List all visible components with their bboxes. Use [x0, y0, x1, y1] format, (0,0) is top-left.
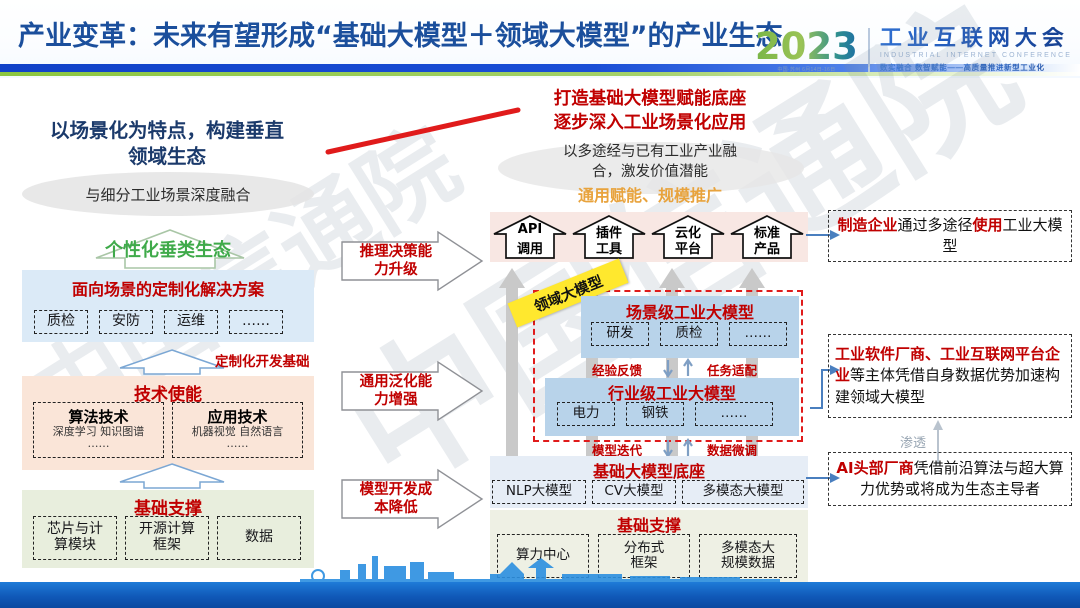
left-tech-title: 技术使能: [22, 376, 314, 405]
center-scene-model-title: 场景级工业大模型: [581, 296, 799, 323]
left-base-title: 基础支撑: [22, 490, 314, 519]
center-red-title-line2: 逐步深入工业场景化应用: [492, 112, 808, 136]
middle-arrow-2-text: 模型开发成本降低: [344, 481, 448, 517]
right-box-1: 制造企业通过多途径使用工业大模型: [828, 210, 1072, 262]
left-heading-line1: 以场景化为特点，构建垂直: [22, 118, 312, 144]
logo-english-name: INDUSTRIAL INTERNET CONFERENCE: [880, 52, 1072, 59]
center-house-0: API 调用: [492, 214, 568, 260]
center-house-1: 插件 工具: [571, 214, 647, 260]
left-tech-group-1-sub: 机器视觉 自然语言 ……: [192, 426, 284, 451]
center-gray-sub-line1: 以多途经与已有工业产业融: [492, 143, 808, 163]
middle-arrow-0-text: 推理决策能力升级: [344, 243, 448, 279]
middle-arrow-1: 通用泛化能力增强: [340, 360, 484, 422]
right-box-2: 工业软件厂商、工业互联网平台企业等主体凭借自身数据优势加速构建领域大模型: [828, 334, 1072, 418]
right-box-3-seg-0: AI头部厂商: [836, 459, 913, 477]
left-tech-group-0-title: 算法技术: [68, 409, 128, 426]
center-foundation-item-0: NLP大模型: [492, 480, 586, 504]
right-box-2-seg-1: 等主体凭借自身数据优势加速构建领域大模型: [835, 366, 1060, 405]
center-base-support-item-0: 算力中心: [497, 534, 589, 578]
center-house-0-line2: 调用: [492, 238, 568, 257]
slide-root: 产业变革：未来有望形成“基础大模型＋领域大模型”的产业生态 2023 中国·苏州…: [0, 0, 1080, 608]
center-base-support-title: 基础支撑: [490, 510, 808, 536]
center-scene-item-1: 质检: [660, 322, 718, 346]
slide-header: 产业变革：未来有望形成“基础大模型＋领域大模型”的产业生态 2023 中国·苏州…: [0, 0, 1080, 78]
center-gray-sub: 以多途经与已有工业产业融 合，激发价值潜能: [492, 143, 808, 182]
page-title: 产业变革：未来有望形成“基础大模型＋领域大模型”的产业生态: [18, 14, 783, 53]
logo-year: 2023: [755, 28, 858, 65]
right-box-1-seg-0: 制造企业: [837, 216, 897, 234]
center-house-1-line2: 工具: [571, 238, 647, 257]
center-house-2: 云化 平台: [650, 214, 726, 260]
left-arrow-note-1: 定制化开发基础: [215, 350, 310, 370]
center-scene-item-2: ……: [729, 322, 787, 346]
right-box-1-seg-2: 使用: [973, 216, 1003, 234]
left-base-item-0: 芯片与计 算模块: [33, 516, 117, 560]
left-tech-group-0: 算法技术 深度学习 知识图谱 ……: [33, 402, 164, 458]
center-house-3-line2: 产品: [729, 238, 805, 257]
logo-chinese-name: 工业互联网大会: [880, 27, 1072, 50]
left-green-banner: 个性化垂类生态: [22, 236, 314, 262]
bottom-blue-band: [0, 582, 1080, 608]
center-red-title: 打造基础大模型赋能底座 逐步深入工业场景化应用: [492, 88, 808, 135]
right-box-1-text: 制造企业通过多途径使用工业大模型: [835, 215, 1065, 256]
center-industry-model-title: 行业级工业大模型: [545, 378, 799, 404]
center-mid-label-left: 经验反馈: [592, 360, 642, 379]
center-mid-arrows: [660, 358, 700, 380]
left-solution-item-0: 质检: [34, 310, 88, 334]
center-industry-item-1: 钢铁: [626, 402, 684, 426]
left-subtitle: 与细分工业场景深度融合: [22, 184, 314, 205]
middle-arrow-0: 推理决策能力升级: [340, 230, 484, 292]
middle-arrow-2: 模型开发成本降低: [340, 468, 484, 530]
left-heading-line2: 领域生态: [22, 144, 312, 170]
center-red-title-line1: 打造基础大模型赋能底座: [492, 88, 808, 112]
center-house-3: 标准 产品: [729, 214, 805, 260]
center-industry-item-2: ……: [695, 402, 773, 426]
left-solution-item-2: 运维: [164, 310, 218, 334]
center-foundation-item-1: CV大模型: [592, 480, 676, 504]
center-base-support-item-1: 分布式 框架: [598, 534, 690, 578]
left-base-item-2: 数据: [217, 516, 301, 560]
right-box-2-text: 工业软件厂商、工业互联网平台企业等主体凭借自身数据优势加速构建领域大模型: [835, 344, 1065, 408]
conference-logo: 2023 中国·苏州 6月14日-16日 工业互联网大会 INDUSTRIAL …: [755, 24, 1072, 76]
penetrate-label: 渗透: [900, 432, 926, 451]
left-tech-group-1: 应用技术 机器视觉 自然语言 ……: [172, 402, 303, 458]
center-gray-sub-line2: 合，激发价值潜能: [492, 163, 808, 183]
center-house-2-line2: 平台: [650, 238, 726, 257]
right-box-3-text: AI头部厂商凭借前沿算法与超大算力优势或将成为生态主导者: [835, 458, 1065, 500]
logo-chinese-tagline: 数实融合 数智赋能——高质量推进新型工业化: [880, 62, 1072, 73]
middle-arrow-1-text: 通用泛化能力增强: [344, 373, 448, 409]
left-tech-group-0-sub: 深度学习 知识图谱 ……: [53, 426, 145, 451]
left-arrow-to-tech: [108, 462, 236, 490]
left-solution-title: 面向场景的定制化解决方案: [22, 270, 314, 300]
logo-divider: [868, 28, 870, 72]
left-base-item-1: 开源计算 框架: [125, 516, 209, 560]
right-box-1-seg-1: 通过多途径: [897, 216, 972, 234]
left-solution-item-3: ……: [229, 310, 283, 334]
center-base-support-item-2: 多模态大 规模数据: [699, 534, 797, 578]
center-house-0-line1: API: [492, 222, 568, 237]
center-scene-item-0: 研发: [591, 322, 649, 346]
right-box-3: AI头部厂商凭借前沿算法与超大算力优势或将成为生态主导者: [828, 452, 1072, 506]
center-foundation-item-2: 多模态大模型: [682, 480, 804, 504]
left-tech-group-1-title: 应用技术: [207, 409, 267, 426]
center-foundation-title: 基础大模型底座: [490, 456, 808, 482]
left-solution-item-1: 安防: [99, 310, 153, 334]
center-orange-sub: 通用赋能、规模推广: [492, 182, 808, 206]
center-industry-item-0: 电力: [557, 402, 615, 426]
left-heading: 以场景化为特点，构建垂直 领域生态: [22, 118, 312, 169]
center-mid-label-right: 任务适配: [707, 360, 757, 379]
